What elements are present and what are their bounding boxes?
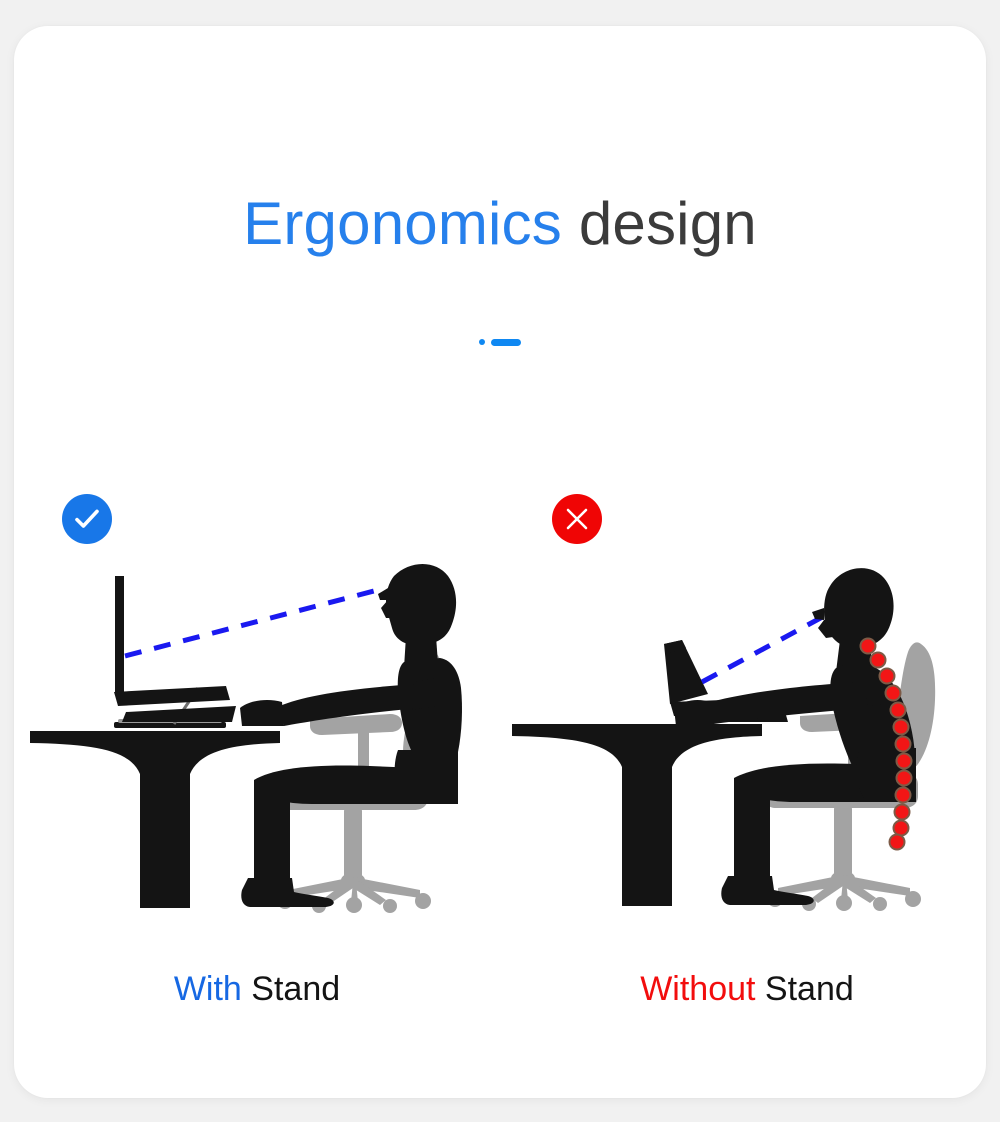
sight-line — [125, 591, 374, 656]
page-title: Ergonomics design — [14, 194, 986, 254]
close-icon — [562, 504, 592, 534]
desk — [512, 724, 762, 906]
check-icon — [70, 502, 104, 536]
caption-without-stand-rest: Stand — [755, 970, 853, 1008]
caption-without-stand: Without Stand — [512, 970, 982, 1009]
caption-with-stand-rest: Stand — [242, 970, 340, 1008]
caption-with-stand: With Stand — [22, 970, 492, 1009]
correct-posture-illustration — [22, 536, 492, 916]
caption-without-stand-emphasis: Without — [640, 970, 755, 1008]
sight-line — [702, 614, 828, 682]
page-root: Ergonomics design — [0, 0, 1000, 1122]
dash-dot-marker-dot — [479, 339, 485, 345]
page-title-highlight: Ergonomics — [243, 190, 562, 257]
caption-with-stand-emphasis: With — [174, 970, 242, 1008]
dash-dot-marker — [14, 332, 986, 352]
desk — [30, 731, 280, 908]
incorrect-posture-illustration — [512, 536, 982, 916]
content-card: Ergonomics design — [14, 26, 986, 1098]
laptop — [114, 576, 236, 722]
dash-dot-marker-dash — [491, 339, 521, 346]
page-title-rest: design — [562, 190, 757, 257]
